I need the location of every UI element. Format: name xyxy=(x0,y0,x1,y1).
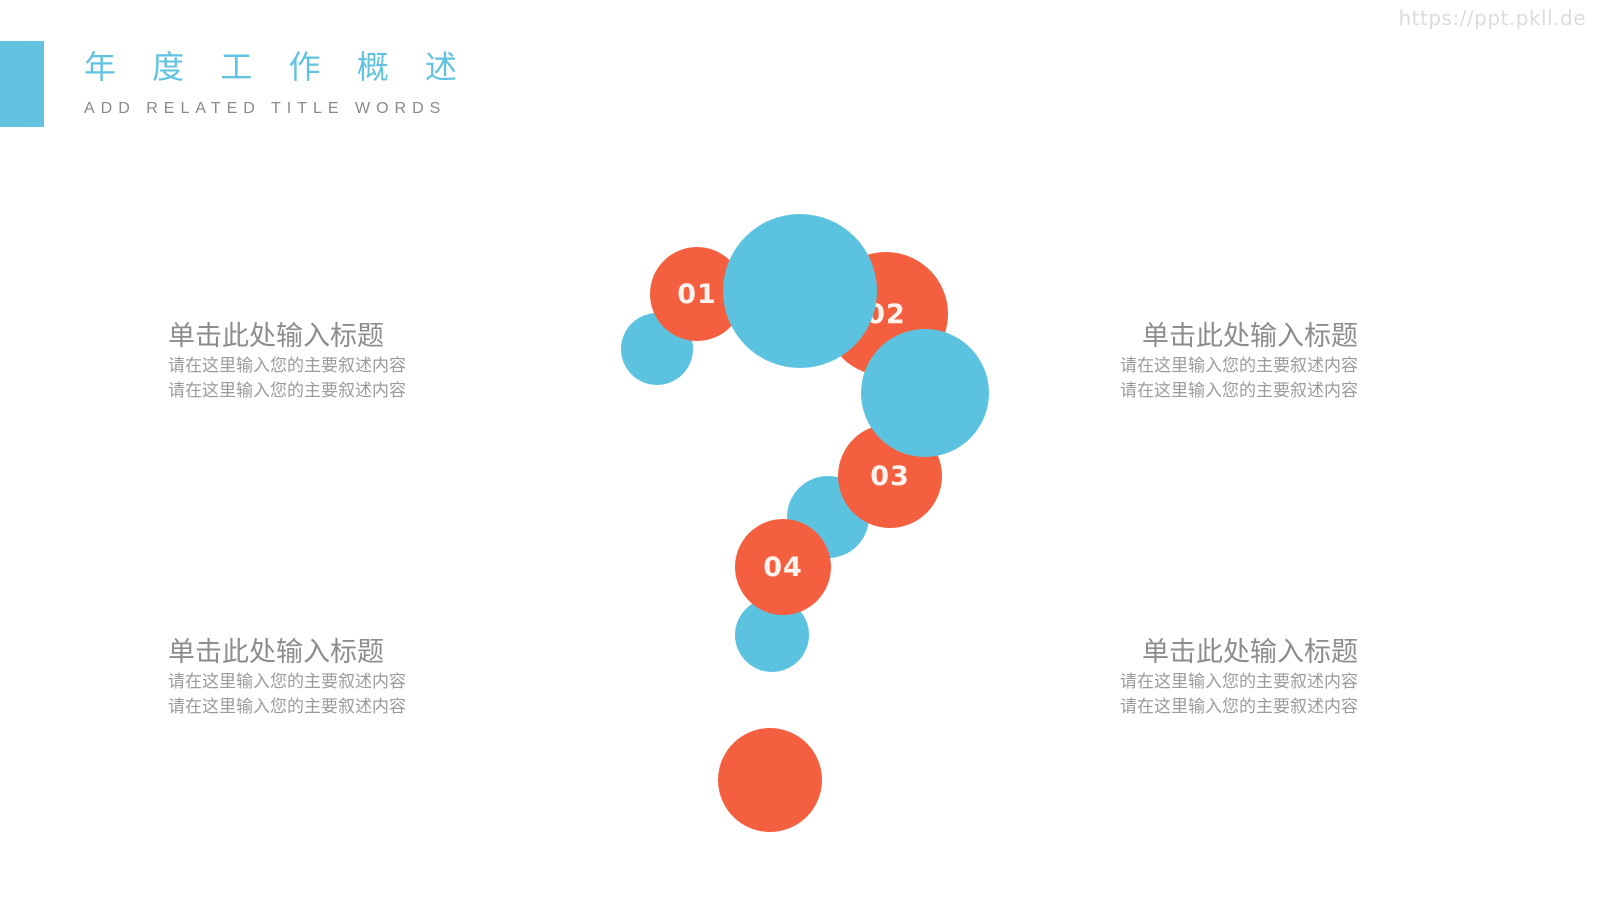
text-block-title: 单击此处输入标题 xyxy=(1028,320,1358,354)
text-block-line: 请在这里输入您的主要叙述内容 xyxy=(168,695,498,720)
bubble-orange-dot[interactable] xyxy=(718,728,822,832)
text-block-line: 请在这里输入您的主要叙述内容 xyxy=(168,354,498,379)
text-block-top-right[interactable]: 单击此处输入标题请在这里输入您的主要叙述内容请在这里输入您的主要叙述内容 xyxy=(1028,320,1358,404)
bubble-number-label: 03 xyxy=(870,461,910,492)
bubble-orange-04[interactable]: 04 xyxy=(735,519,831,615)
slide-canvas: https://ppt.pkll.de 年 度 工 作 概 述 ADD RELA… xyxy=(0,0,1600,900)
text-block-line: 请在这里输入您的主要叙述内容 xyxy=(1028,695,1358,720)
text-block-bottom-left[interactable]: 单击此处输入标题请在这里输入您的主要叙述内容请在这里输入您的主要叙述内容 xyxy=(168,636,498,720)
text-block-title: 单击此处输入标题 xyxy=(1028,636,1358,670)
text-block-line: 请在这里输入您的主要叙述内容 xyxy=(1028,354,1358,379)
text-block-line: 请在这里输入您的主要叙述内容 xyxy=(1028,670,1358,695)
text-block-top-left[interactable]: 单击此处输入标题请在这里输入您的主要叙述内容请在这里输入您的主要叙述内容 xyxy=(168,320,498,404)
text-block-title: 单击此处输入标题 xyxy=(168,636,498,670)
text-block-line: 请在这里输入您的主要叙述内容 xyxy=(168,670,498,695)
text-block-bottom-right[interactable]: 单击此处输入标题请在这里输入您的主要叙述内容请在这里输入您的主要叙述内容 xyxy=(1028,636,1358,720)
text-block-title: 单击此处输入标题 xyxy=(168,320,498,354)
bubble-diagram: 01020304 xyxy=(0,0,1600,900)
bubble-number-label: 01 xyxy=(677,279,717,310)
text-block-line: 请在这里输入您的主要叙述内容 xyxy=(168,379,498,404)
bubble-blue-large[interactable] xyxy=(723,214,877,368)
bubble-blue-mid-right[interactable] xyxy=(861,329,989,457)
bubble-number-label: 04 xyxy=(763,552,803,583)
text-block-line: 请在这里输入您的主要叙述内容 xyxy=(1028,379,1358,404)
